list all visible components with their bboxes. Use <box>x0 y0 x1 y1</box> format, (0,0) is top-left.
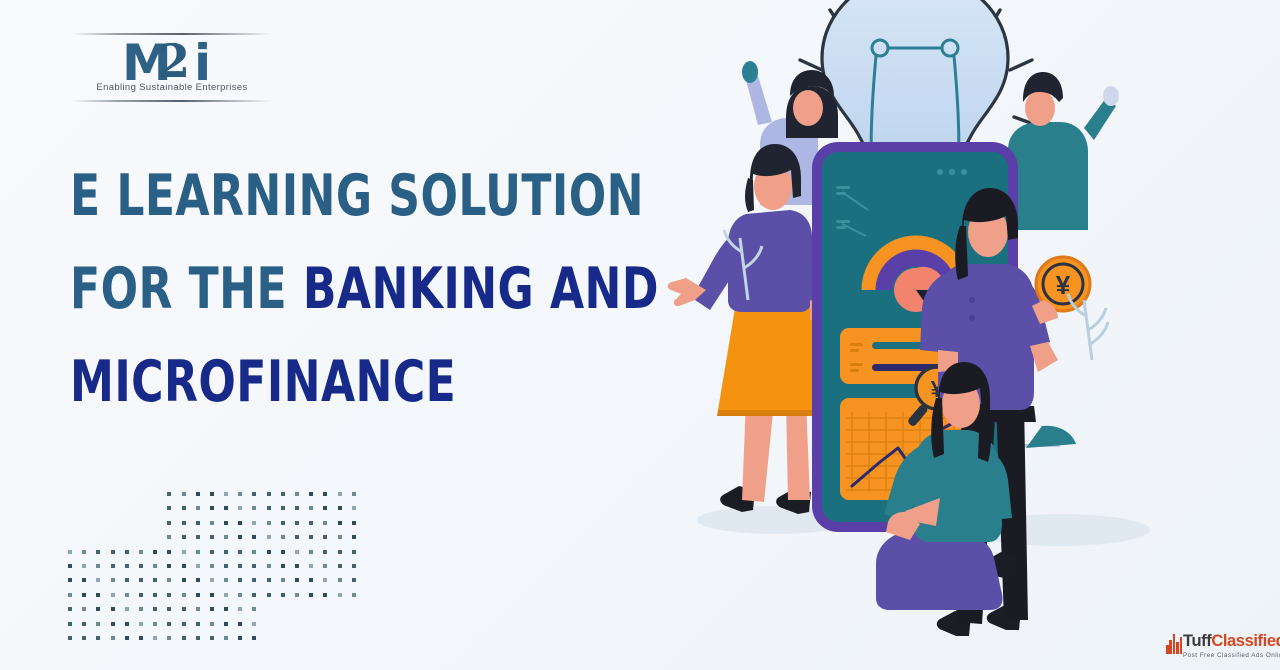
dot <box>210 564 214 568</box>
dot <box>267 506 271 510</box>
dot <box>323 506 327 510</box>
dot <box>323 550 327 554</box>
watermark-tagline: Post Free Classified Ads Online <box>1183 652 1280 659</box>
dot <box>238 622 242 626</box>
dot-row <box>68 521 366 535</box>
phone-status-icons <box>937 169 967 175</box>
dot <box>111 593 115 597</box>
dot <box>281 492 285 496</box>
dot-spacer <box>139 535 143 539</box>
dot <box>167 550 171 554</box>
dot <box>82 622 86 626</box>
dot <box>82 636 86 640</box>
headline-line-1-text: E LEARNING SOLUTION <box>70 163 644 229</box>
dot <box>252 593 256 597</box>
dot <box>295 564 299 568</box>
dot <box>267 593 271 597</box>
headline-block: E LEARNING SOLUTION FOR THE BANKING AND … <box>70 150 690 429</box>
dot <box>210 622 214 626</box>
dot <box>210 535 214 539</box>
dot <box>68 622 72 626</box>
dot <box>224 506 228 510</box>
dot <box>182 607 186 611</box>
dot <box>68 564 72 568</box>
dot <box>281 564 285 568</box>
dot <box>96 636 100 640</box>
dot <box>167 622 171 626</box>
dot <box>196 535 200 539</box>
dot <box>338 578 342 582</box>
dot <box>323 578 327 582</box>
dot <box>252 578 256 582</box>
dot <box>111 607 115 611</box>
dot <box>153 607 157 611</box>
dot-row <box>68 564 366 578</box>
dot <box>224 593 228 597</box>
dot <box>210 578 214 582</box>
dot-spacer <box>96 535 100 539</box>
dot <box>338 492 342 496</box>
dot-row <box>68 578 366 592</box>
headline-line-2: FOR THE BANKING AND <box>70 243 603 336</box>
dot <box>182 622 186 626</box>
hero-illustration: ¥ <box>640 0 1180 670</box>
dot <box>281 535 285 539</box>
dot <box>267 564 271 568</box>
dot <box>210 506 214 510</box>
dot <box>309 593 313 597</box>
logo-letter-2: 2 <box>158 36 190 86</box>
dot <box>167 578 171 582</box>
dot <box>352 492 356 496</box>
dot-spacer <box>111 521 115 525</box>
dot <box>238 521 242 525</box>
dot-spacer <box>139 506 143 510</box>
watermark-bar <box>1169 640 1172 654</box>
dot <box>125 593 129 597</box>
dot <box>182 636 186 640</box>
dot <box>309 578 313 582</box>
dot <box>295 521 299 525</box>
headline-line-3-text: MICROFINANCE <box>70 349 456 415</box>
dot <box>338 564 342 568</box>
dot <box>252 521 256 525</box>
dot <box>111 564 115 568</box>
dot <box>167 607 171 611</box>
dot <box>96 564 100 568</box>
dot <box>82 564 86 568</box>
dot <box>167 636 171 640</box>
dot <box>210 607 214 611</box>
dot-spacer <box>68 535 72 539</box>
dot <box>196 564 200 568</box>
headline-line-2-prefix: FOR THE <box>70 256 303 322</box>
dot <box>82 550 86 554</box>
dot <box>125 550 129 554</box>
dot <box>352 550 356 554</box>
watermark-bar <box>1180 637 1183 654</box>
watermark-bars-icon <box>1166 634 1182 654</box>
dot <box>125 564 129 568</box>
dot <box>68 593 72 597</box>
dot <box>153 593 157 597</box>
dot <box>167 564 171 568</box>
dot <box>111 622 115 626</box>
dot <box>323 521 327 525</box>
dot <box>68 636 72 640</box>
dot-spacer <box>139 492 143 496</box>
tuffclassified-watermark[interactable]: TuffClassified Post Free Classified Ads … <box>1166 626 1274 666</box>
dot <box>153 564 157 568</box>
logo-letter-i: i <box>194 38 211 88</box>
dot <box>182 535 186 539</box>
dot <box>182 550 186 554</box>
dot <box>196 578 200 582</box>
dot <box>139 593 143 597</box>
dot-spacer <box>153 535 157 539</box>
dot <box>352 593 356 597</box>
logo-tagline: Enabling Sustainable Enterprises <box>72 82 272 93</box>
dot <box>338 535 342 539</box>
dot <box>238 506 242 510</box>
dot <box>210 492 214 496</box>
dot <box>196 607 200 611</box>
dot <box>238 550 242 554</box>
dot <box>309 564 313 568</box>
dot <box>182 492 186 496</box>
dot <box>196 550 200 554</box>
dot <box>153 636 157 640</box>
dot <box>338 506 342 510</box>
dot <box>125 622 129 626</box>
dot <box>352 578 356 582</box>
dot-spacer <box>68 492 72 496</box>
person-behind-phone-right <box>1008 72 1119 230</box>
dot <box>96 578 100 582</box>
dot <box>125 636 129 640</box>
dot <box>210 550 214 554</box>
dot <box>238 593 242 597</box>
dot <box>139 607 143 611</box>
dot <box>295 535 299 539</box>
dot <box>153 550 157 554</box>
dot <box>352 506 356 510</box>
dot <box>196 521 200 525</box>
dot <box>252 622 256 626</box>
dot <box>295 593 299 597</box>
dot <box>309 521 313 525</box>
dot <box>153 622 157 626</box>
dot <box>224 535 228 539</box>
headline-line-3: MICROFINANCE <box>70 336 603 429</box>
dot <box>309 535 313 539</box>
dot <box>182 578 186 582</box>
dot <box>96 550 100 554</box>
dot <box>295 506 299 510</box>
dot-spacer <box>111 535 115 539</box>
dot <box>167 593 171 597</box>
dot-spacer <box>125 521 129 525</box>
dot <box>323 593 327 597</box>
dot <box>111 578 115 582</box>
dot <box>338 593 342 597</box>
watermark-bar <box>1176 642 1179 654</box>
dot <box>338 521 342 525</box>
logo-wordmark: M 2 i <box>122 38 224 88</box>
dot-row <box>68 535 366 549</box>
dot <box>267 492 271 496</box>
dot <box>281 578 285 582</box>
headline-line-2-emphasis: BANKING AND <box>303 256 659 322</box>
dot <box>224 607 228 611</box>
dot-spacer <box>82 521 86 525</box>
dot <box>182 506 186 510</box>
dot <box>196 622 200 626</box>
dot <box>267 535 271 539</box>
dot <box>82 593 86 597</box>
dot <box>96 593 100 597</box>
dot <box>309 506 313 510</box>
headline-line-1: E LEARNING SOLUTION <box>70 150 603 243</box>
dot-spacer <box>82 506 86 510</box>
dot <box>309 550 313 554</box>
dot <box>238 564 242 568</box>
dot <box>125 607 129 611</box>
dot <box>196 593 200 597</box>
dot <box>252 564 256 568</box>
dot-spacer <box>68 521 72 525</box>
dot-spacer <box>125 535 129 539</box>
dot <box>238 492 242 496</box>
dot <box>281 521 285 525</box>
dot-spacer <box>96 521 100 525</box>
dot <box>68 550 72 554</box>
dot <box>182 593 186 597</box>
dot <box>238 535 242 539</box>
watermark-bar <box>1173 634 1176 654</box>
dot <box>309 492 313 496</box>
dot <box>210 521 214 525</box>
dot-spacer <box>82 535 86 539</box>
logo-divider-bottom <box>72 100 272 102</box>
dot-spacer <box>68 506 72 510</box>
dot <box>295 550 299 554</box>
dot <box>252 607 256 611</box>
dot <box>167 535 171 539</box>
dot <box>252 535 256 539</box>
dot <box>139 564 143 568</box>
hero-banner: M 2 i Enabling Sustainable Enterprises E… <box>0 0 1280 670</box>
decorative-dot-grid <box>68 492 366 650</box>
dot <box>238 578 242 582</box>
dot <box>252 636 256 640</box>
dot <box>295 578 299 582</box>
dot <box>252 506 256 510</box>
dot <box>323 535 327 539</box>
dot-spacer <box>82 492 86 496</box>
dot <box>196 636 200 640</box>
dot <box>224 492 228 496</box>
dot <box>224 578 228 582</box>
dot <box>281 593 285 597</box>
dot <box>281 550 285 554</box>
dot <box>167 521 171 525</box>
dot <box>82 578 86 582</box>
watermark-brand-part2: Classified <box>1211 632 1280 650</box>
dot-spacer <box>111 506 115 510</box>
dot-row <box>68 550 366 564</box>
dot <box>224 564 228 568</box>
plant-sprig <box>1068 294 1108 360</box>
dot-spacer <box>153 492 157 496</box>
dot-spacer <box>153 521 157 525</box>
dot <box>139 550 143 554</box>
dot <box>196 506 200 510</box>
dot-spacer <box>153 506 157 510</box>
dot-spacer <box>111 492 115 496</box>
dot <box>238 636 242 640</box>
watermark-brand-part1: Tuff <box>1183 632 1211 650</box>
dot <box>252 550 256 554</box>
dot <box>167 492 171 496</box>
dot <box>295 492 299 496</box>
dot <box>224 622 228 626</box>
dot <box>224 636 228 640</box>
dot <box>352 535 356 539</box>
dot-row <box>68 492 366 506</box>
dot <box>125 578 129 582</box>
dot <box>238 607 242 611</box>
dot <box>68 578 72 582</box>
dot <box>267 578 271 582</box>
watermark-brand: TuffClassified <box>1183 632 1280 651</box>
dot-spacer <box>96 506 100 510</box>
dot-row <box>68 622 366 636</box>
dot <box>252 492 256 496</box>
dot <box>139 578 143 582</box>
dot <box>167 506 171 510</box>
dot <box>111 636 115 640</box>
dot <box>68 607 72 611</box>
dot <box>111 550 115 554</box>
dot-spacer <box>139 521 143 525</box>
dot <box>323 564 327 568</box>
dot <box>352 521 356 525</box>
dot-spacer <box>125 506 129 510</box>
dot <box>281 506 285 510</box>
dot <box>210 593 214 597</box>
dot-row <box>68 593 366 607</box>
dot-spacer <box>96 492 100 496</box>
dot-row <box>68 607 366 621</box>
dot <box>196 492 200 496</box>
dot <box>96 622 100 626</box>
dot <box>153 578 157 582</box>
dot <box>82 607 86 611</box>
dot <box>267 521 271 525</box>
dot <box>224 550 228 554</box>
dot <box>352 564 356 568</box>
dot-row <box>68 636 366 650</box>
dot <box>139 622 143 626</box>
dot-spacer <box>125 492 129 496</box>
dot <box>210 636 214 640</box>
dot-row <box>68 506 366 520</box>
dot <box>96 607 100 611</box>
dot <box>323 492 327 496</box>
dot <box>182 521 186 525</box>
dot <box>267 550 271 554</box>
dot <box>182 564 186 568</box>
dot <box>224 521 228 525</box>
dot <box>338 550 342 554</box>
watermark-bar <box>1166 645 1169 654</box>
dot <box>139 636 143 640</box>
brand-logo[interactable]: M 2 i Enabling Sustainable Enterprises <box>72 16 272 108</box>
